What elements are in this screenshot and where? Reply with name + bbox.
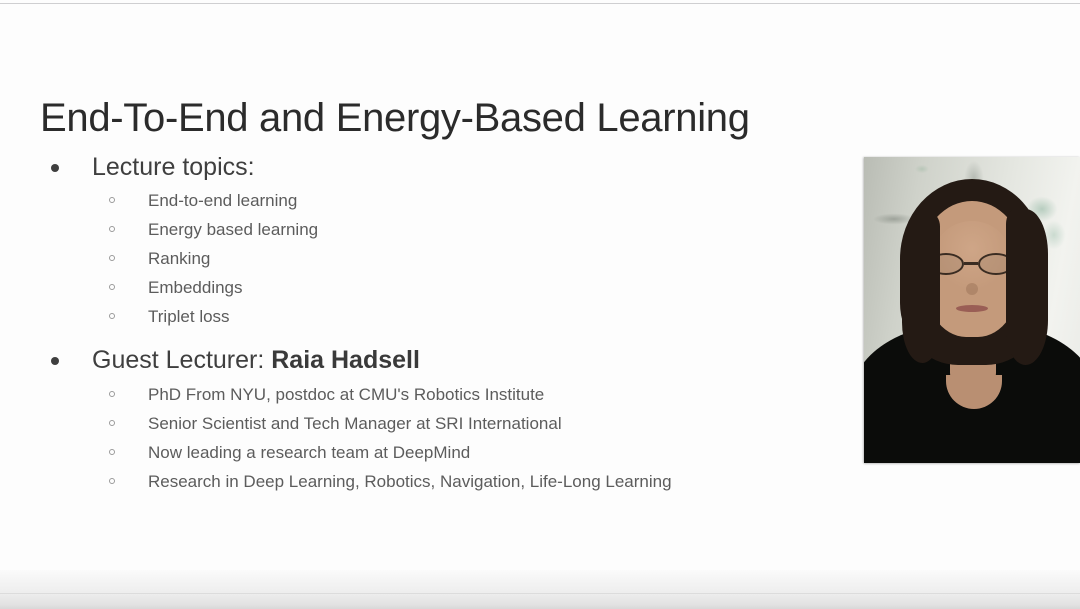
sub-bullet-label: PhD From NYU, postdoc at CMU's Robotics …: [148, 385, 544, 404]
presenter-mouth: [956, 305, 988, 312]
presenter-webcam-video[interactable]: [864, 157, 1080, 463]
player-bottom-band: [0, 570, 1080, 609]
list-item: End-to-end learning: [0, 186, 840, 215]
sub-bullet-label: Triplet loss: [148, 307, 230, 326]
list-item: Triplet loss: [0, 302, 840, 331]
bullet-circle-icon: [109, 313, 115, 319]
sub-bullet-label: Ranking: [148, 249, 210, 268]
slide-surface: End-To-End and Energy-Based Learning Lec…: [0, 5, 1080, 570]
guest-lecturer-name: Raia Hadsell: [271, 346, 420, 374]
sub-bullet-label: Now leading a research team at DeepMind: [148, 443, 470, 462]
list-item: Research in Deep Learning, Robotics, Nav…: [0, 467, 840, 496]
list-item: Senior Scientist and Tech Manager at SRI…: [0, 409, 840, 438]
list-item: Ranking: [0, 244, 840, 273]
bullet-circle-icon: [109, 197, 115, 203]
list-item: Energy based learning: [0, 215, 840, 244]
bullet-group-lecture-topics: Lecture topics: End-to-end learning Ener…: [0, 150, 840, 331]
list-item: PhD From NYU, postdoc at CMU's Robotics …: [0, 380, 840, 409]
bullet-circle-icon: [109, 478, 115, 484]
sub-bullet-label: Senior Scientist and Tech Manager at SRI…: [148, 414, 562, 433]
bullet-circle-icon: [109, 226, 115, 232]
bullet-heading-label: Lecture topics:: [92, 153, 255, 181]
sub-bullet-list: PhD From NYU, postdoc at CMU's Robotics …: [0, 380, 840, 496]
list-item: Guest Lecturer: Raia Hadsell: [0, 343, 840, 377]
page-title: End-To-End and Energy-Based Learning: [40, 94, 750, 142]
bullet-circle-icon: [109, 420, 115, 426]
slide-body: Lecture topics: End-to-end learning Ener…: [0, 150, 840, 496]
bullet-heading-label: Guest Lecturer: Raia Hadsell: [92, 346, 420, 374]
sub-bullet-label: Research in Deep Learning, Robotics, Nav…: [148, 472, 672, 491]
sub-bullet-list: End-to-end learning Energy based learnin…: [0, 186, 840, 331]
presenter-hair-left-strand: [902, 213, 940, 363]
bullet-group-guest-lecturer: Guest Lecturer: Raia Hadsell PhD From NY…: [0, 343, 840, 496]
list-item: Embeddings: [0, 273, 840, 302]
presenter-nose: [966, 283, 978, 295]
sub-bullet-label: End-to-end learning: [148, 191, 297, 210]
slide-viewer: End-To-End and Energy-Based Learning Lec…: [0, 0, 1080, 609]
bullet-dot-icon: [51, 164, 59, 172]
bullet-circle-icon: [109, 255, 115, 261]
bullet-dot-icon: [51, 357, 59, 365]
presenter-hair-right-strand: [1006, 209, 1048, 365]
bullet-circle-icon: [109, 284, 115, 290]
sub-bullet-label: Embeddings: [148, 278, 243, 297]
glasses-bridge: [964, 262, 978, 265]
sub-bullet-label: Energy based learning: [148, 220, 318, 239]
bullet-circle-icon: [109, 449, 115, 455]
bullet-circle-icon: [109, 391, 115, 397]
bottom-divider: [0, 593, 1080, 594]
top-divider: [0, 3, 1080, 4]
list-item: Now leading a research team at DeepMind: [0, 438, 840, 467]
list-item: Lecture topics:: [0, 150, 840, 184]
guest-lecturer-prefix: Guest Lecturer:: [92, 346, 271, 374]
